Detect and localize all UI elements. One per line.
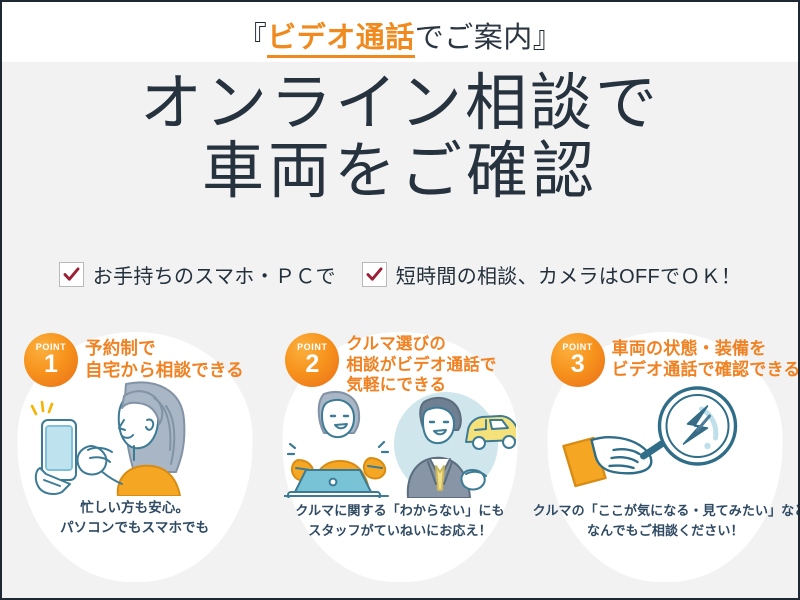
point-badge-2: POINT 2 <box>285 333 339 387</box>
feature-check-label-2: 短時間の相談、カメラはOFFでＯＫ！ <box>396 260 741 289</box>
feature-check-row: お手持ちのスマホ・ＰＣで 短時間の相談、カメラはOFFでＯＫ！ <box>2 260 798 289</box>
point-title-line: 車両の状態・装備を <box>612 338 798 359</box>
hand-with-magnifying-glass-illustration <box>558 382 773 502</box>
point-title-line: クルマ選びの <box>346 334 496 355</box>
point-badge-3: POINT 3 <box>551 333 605 387</box>
point-badge-number: 3 <box>571 352 585 377</box>
check-icon <box>59 262 84 287</box>
kicker-highlight-text: ビデオ通話 <box>267 22 415 58</box>
point-card-1: POINT 1 予約制で 自宅から相談できる <box>2 320 267 598</box>
point-caption-2: クルマに関する「わからない」にも スタッフがていねいにお応え！ <box>267 501 532 540</box>
promo-banner: 『ビデオ通話でご案内』 オンライン相談で 車両をご確認 お手持ちのスマホ・ＰＣで… <box>0 0 800 600</box>
kicker-close-bracket: 』 <box>533 22 563 54</box>
kicker-heading: 『ビデオ通話でご案内』 <box>2 14 798 56</box>
point-caption-line: 忙しい方も安心。 <box>2 498 267 518</box>
point-caption-line: なんでもご相談ください！ <box>533 521 798 541</box>
point-badge-number: 2 <box>305 352 319 377</box>
feature-check-label-1: お手持ちのスマホ・ＰＣで <box>93 260 336 289</box>
feature-check-item-2: 短時間の相談、カメラはOFFでＯＫ！ <box>362 260 741 289</box>
point-title-line: 予約制で <box>85 338 244 360</box>
point-badge-number: 1 <box>44 352 58 377</box>
point-caption-line: パソコンでもスマホでも <box>2 518 267 538</box>
point-card-3: POINT 3 車両の状態・装備を ビデオ通話で確認できる <box>533 320 798 598</box>
check-icon <box>362 262 387 287</box>
woman-at-laptop-and-staff-with-car-illustration <box>284 386 516 503</box>
main-headline: オンライン相談で 車両をご確認 <box>2 74 798 201</box>
headline-line-1: オンライン相談で <box>2 74 798 134</box>
point-caption-line: クルマの「ここが気になる・見てみたい」など <box>533 501 798 521</box>
point-caption-line: クルマに関する「わからない」にも <box>267 501 532 521</box>
point-caption-line: スタッフがていねいにお応え！ <box>267 521 532 541</box>
point-card-2: POINT 2 クルマ選びの 相談がビデオ通話で 気軽にできる <box>267 320 532 598</box>
kicker-open-bracket: 『 <box>238 22 268 54</box>
point-caption-1: 忙しい方も安心。 パソコンでもスマホでも <box>2 498 267 539</box>
point-title-3: 車両の状態・装備を ビデオ通話で確認できる <box>612 338 798 381</box>
point-caption-3: クルマの「ここが気になる・見てみたい」など なんでもご相談ください！ <box>533 501 798 540</box>
point-title-line: ビデオ通話で確認できる <box>612 359 798 380</box>
feature-check-item-1: お手持ちのスマホ・ＰＣで <box>59 260 336 289</box>
headline-line-2: 車両をご確認 <box>2 142 798 202</box>
points-section: POINT 1 予約制で 自宅から相談できる <box>2 320 798 598</box>
kicker-tail-text: でご案内 <box>415 22 533 54</box>
point-title-line: 相談がビデオ通話で <box>346 355 496 376</box>
woman-with-smartphone-illustration <box>30 376 240 501</box>
